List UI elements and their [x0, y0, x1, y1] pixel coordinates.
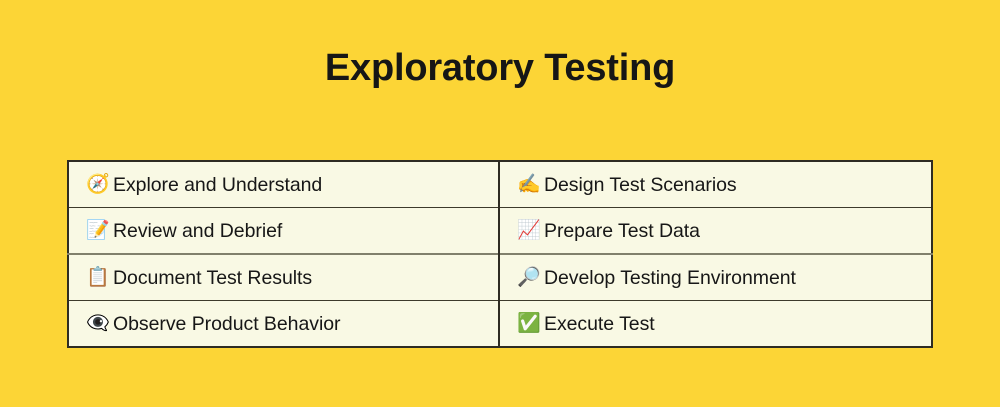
page-title: Exploratory Testing	[0, 45, 1000, 91]
activity-label: Prepare Test Data	[544, 219, 700, 243]
table-cell-left[interactable]: 👁️‍🗨️ Observe Product Behavior	[68, 301, 499, 348]
table-cell-left[interactable]: 🧭 Explore and Understand	[68, 161, 499, 208]
writing-hand-icon: ✍️	[517, 175, 539, 194]
page-root: Exploratory Testing 🧭 Explore and Unders…	[0, 0, 1000, 407]
table-cell-right[interactable]: ✅ Execute Test	[499, 301, 932, 348]
clipboard-icon: 📋	[86, 268, 108, 287]
memo-icon: 📝	[86, 221, 108, 240]
table-cell-left[interactable]: 📝 Review and Debrief	[68, 208, 499, 255]
compass-icon: 🧭	[86, 175, 108, 194]
table-cell-right[interactable]: ✍️ Design Test Scenarios	[499, 161, 932, 208]
table-row: 👁️‍🗨️ Observe Product Behavior ✅ Execute…	[68, 301, 932, 348]
eye-in-speech-bubble-icon: 👁️‍🗨️	[86, 314, 108, 333]
activity-label: Execute Test	[544, 312, 655, 336]
activity-label: Review and Debrief	[113, 219, 282, 243]
table-row: 🧭 Explore and Understand ✍️ Design Test …	[68, 161, 932, 208]
table-cell-right[interactable]: 🔎 Develop Testing Environment	[499, 254, 932, 301]
activity-label: Design Test Scenarios	[544, 173, 737, 197]
table-row: 📝 Review and Debrief 📈 Prepare Test Data	[68, 208, 932, 255]
check-mark-button-icon: ✅	[517, 314, 539, 333]
table-row: 📋 Document Test Results 🔎 Develop Testin…	[68, 254, 932, 301]
exploratory-testing-activities-table: 🧭 Explore and Understand ✍️ Design Test …	[67, 160, 933, 348]
activity-label: Document Test Results	[113, 266, 312, 290]
activity-label: Develop Testing Environment	[544, 266, 796, 290]
table-cell-right[interactable]: 📈 Prepare Test Data	[499, 208, 932, 255]
activity-label: Explore and Understand	[113, 173, 322, 197]
chart-increasing-icon: 📈	[517, 221, 539, 240]
table-cell-left[interactable]: 📋 Document Test Results	[68, 254, 499, 301]
activity-label: Observe Product Behavior	[113, 312, 341, 336]
magnifying-glass-icon: 🔎	[517, 268, 539, 287]
